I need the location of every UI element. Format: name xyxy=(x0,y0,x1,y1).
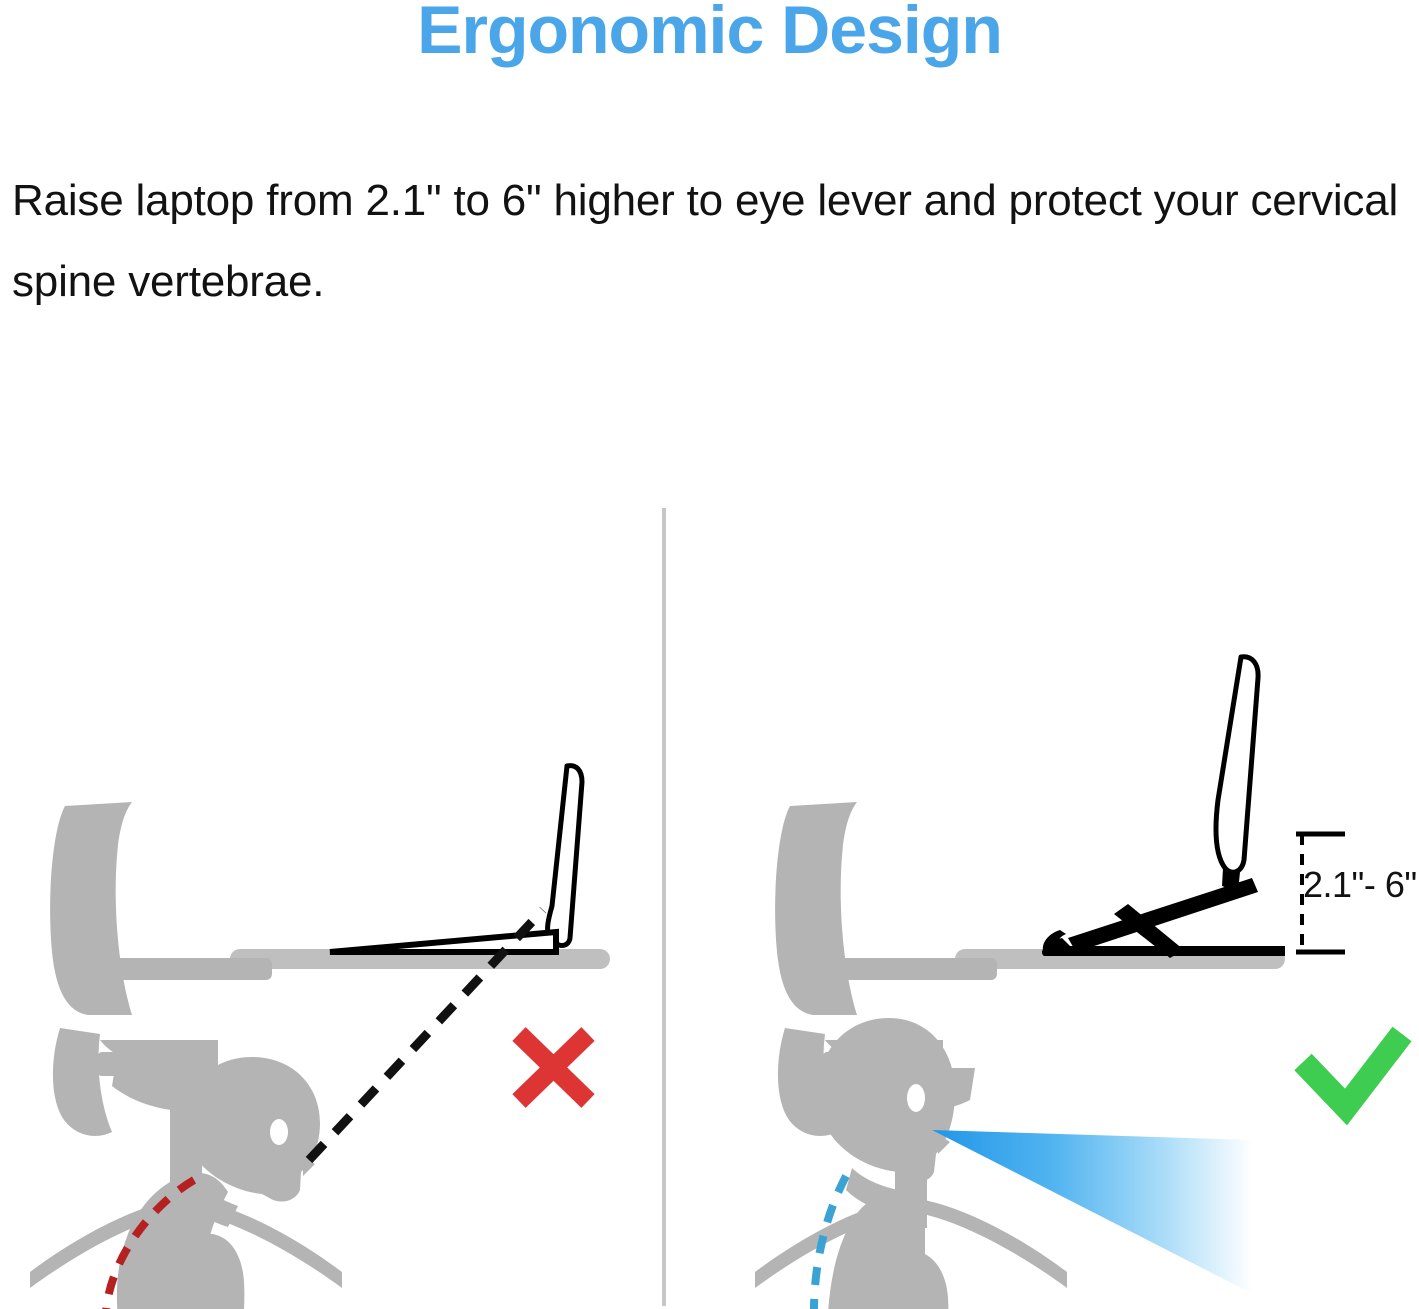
cross-icon xyxy=(519,1034,588,1101)
laptop-on-stand xyxy=(1042,657,1285,958)
bad-posture-illustration xyxy=(30,766,610,1309)
description-text: Raise laptop from 2.1" to 6" higher to e… xyxy=(12,160,1407,323)
vision-cone xyxy=(932,1130,1253,1294)
eye-good xyxy=(907,1084,925,1112)
eye-bad xyxy=(270,1119,288,1145)
measurement-label: 2.1"- 6" xyxy=(1303,864,1417,906)
page-title: Ergonomic Design xyxy=(0,0,1419,67)
good-posture-illustration xyxy=(755,657,1402,1309)
illustration-area: 2.1"- 6" xyxy=(0,500,1419,1309)
check-icon xyxy=(1303,1034,1402,1107)
infographic-page: Ergonomic Design Raise laptop from 2.1" … xyxy=(0,0,1419,1309)
laptop-flat xyxy=(330,766,582,952)
